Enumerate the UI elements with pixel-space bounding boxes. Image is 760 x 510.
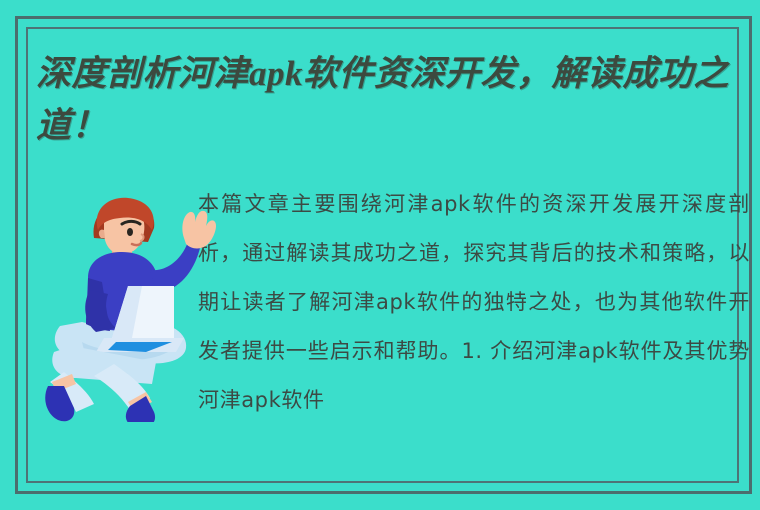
eye-shape (127, 228, 133, 236)
waving-hand-shape (182, 211, 216, 249)
illustration-person-with-laptop (42, 186, 222, 422)
illustration-svg (42, 186, 222, 422)
page-title: 深度剖析河津apk软件资深开发，解读成功之道！ (36, 48, 736, 152)
article-body-text: 本篇文章主要围绕河津apk软件的资深开发展开深度剖析，通过解读其成功之道，探究其… (198, 180, 750, 425)
poster-canvas: 深度剖析河津apk软件资深开发，解读成功之道！ 本篇文章主要围绕河津apk软件的… (0, 0, 760, 510)
raised-arm-sleeve-shape (150, 242, 200, 292)
